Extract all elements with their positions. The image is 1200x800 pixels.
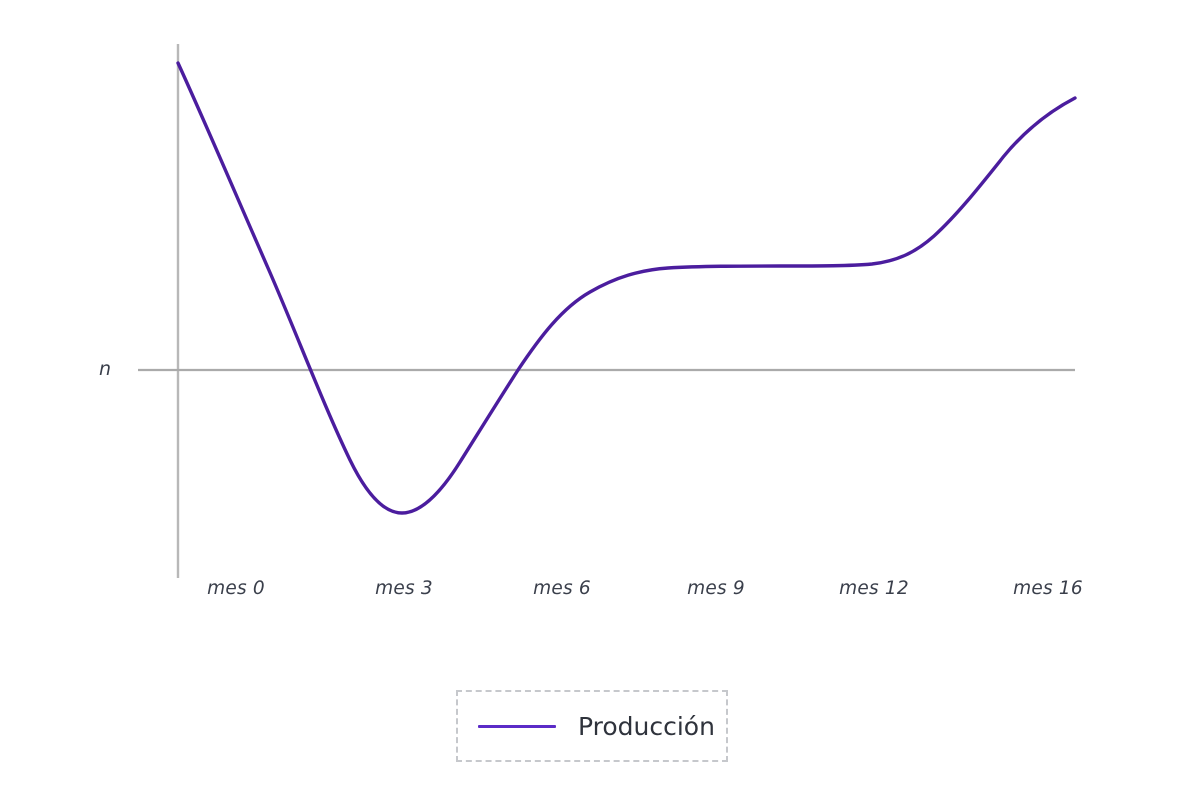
chart-container: n mes 0 mes 3 mes 6 mes 9 mes 12 mes 16 … [0,0,1200,800]
xtick-label-1: mes 3 [375,578,433,599]
chart-legend: Producción [456,690,728,762]
xtick-label-0: mes 0 [207,578,265,599]
legend-label-produccion: Producción [578,714,715,739]
legend-line-swatch-produccion [478,725,556,728]
xtick-label-5: mes 16 [1013,578,1083,599]
baseline-label-n: n [99,358,111,380]
xtick-label-2: mes 6 [533,578,591,599]
xtick-label-3: mes 9 [687,578,745,599]
line-chart-plot [0,0,1200,800]
series-line-produccion [178,63,1075,513]
xtick-label-4: mes 12 [839,578,909,599]
